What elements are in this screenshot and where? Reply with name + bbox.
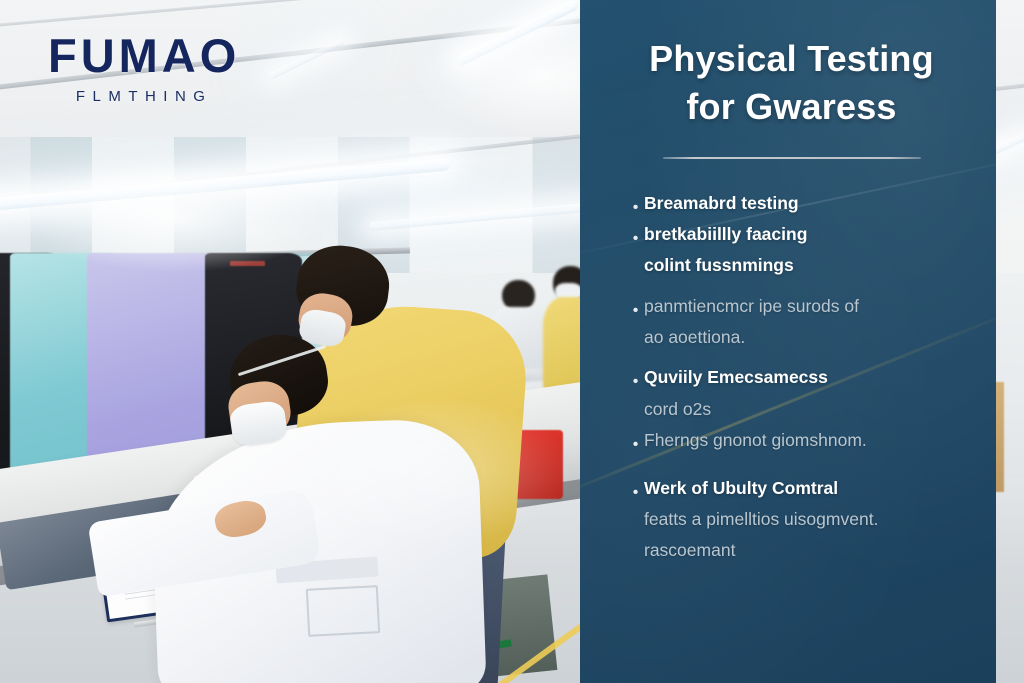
bullet-text: Quviily Emecsamecss [644,363,958,391]
bullet-item: •rascoemant [627,536,958,564]
bullet-item: •colint fussnmings [627,251,958,279]
bullet-text: Fherngs gnonot giomshnom. [644,426,958,454]
bullet-text: Werk of Ubulty Comtral [644,474,958,502]
bullet-dot-icon: • [627,485,644,501]
bullet-item: •bretkabiillly faacing [627,220,958,248]
bullet-dot-icon: • [627,303,644,319]
bullet-item: •Fherngs gnonot giomshnom. [627,426,958,454]
lab-coat-pocket [306,586,380,637]
bullet-spacer [627,458,958,474]
logo-tagline: FLMTHING [48,88,240,105]
bullet-text: featts a pimelltios uisogmvent. [644,505,958,533]
title-divider [663,157,921,159]
content-panel: Physical Testing for Gwaress •Breamabrd … [580,0,996,683]
bullet-spacer [627,354,958,363]
bullet-text: rascoemant [644,536,958,564]
bullet-spacer [627,283,958,292]
bullet-dot-icon: • [627,374,644,390]
bullet-item: •Quviily Emecsamecss [627,363,958,391]
bullet-text: bretkabiillly faacing [644,220,958,248]
panel-title-line-2: for Gwaress [617,83,966,131]
bullet-item: •panmtiencmcr ipe surods of [627,292,958,320]
brand-logo: FUMAO FLMTHING [48,32,240,105]
bullet-dot-icon: • [627,200,644,216]
slide-canvas: FUMAO FLMTHING Physical Testing for Gwar… [0,0,1024,683]
bullet-item: •Breamabrd testing [627,189,958,217]
bullet-text: colint fussnmings [644,251,958,279]
bullet-text: cord o2s [644,395,958,423]
bullet-list: •Breamabrd testing•bretkabiillly faacing… [617,189,966,565]
bullet-item: •featts a pimelltios uisogmvent. [627,505,958,533]
logo-wordmark: FUMAO [48,32,240,79]
bullet-text: ao aoettiona. [644,323,958,351]
bullet-dot-icon: • [627,437,644,453]
bullet-item: •Werk of Ubulty Comtral [627,474,958,502]
panel-title-line-1: Physical Testing [617,35,966,83]
bullet-text: Breamabrd testing [644,189,958,217]
bullet-dot-icon: • [627,231,644,247]
bullet-item: •cord o2s [627,395,958,423]
bullet-text: panmtiencmcr ipe surods of [644,292,958,320]
panel-title: Physical Testing for Gwaress [617,35,966,131]
bullet-item: •ao aoettiona. [627,323,958,351]
